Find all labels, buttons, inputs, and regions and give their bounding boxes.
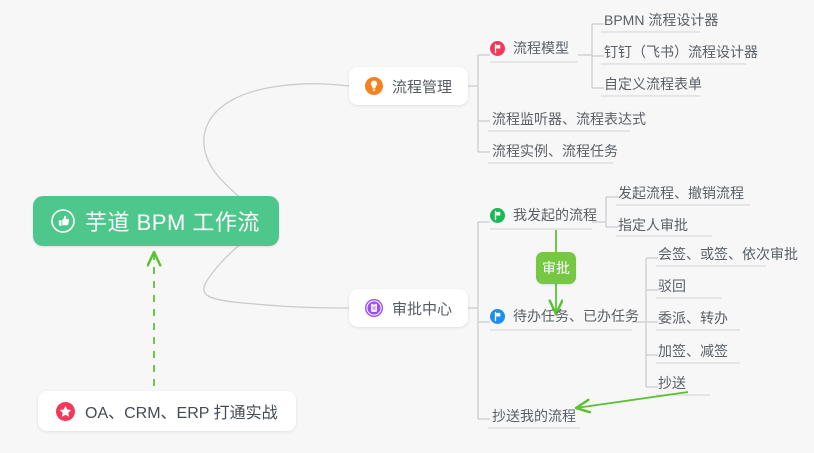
- node-add-remove-sign[interactable]: 加签、减签: [658, 339, 728, 363]
- node-dingtalk-feishu-designer[interactable]: 钉钉（飞书）流程设计器: [604, 40, 758, 64]
- node-todo-done-task[interactable]: 待办任务、已办任务: [490, 301, 639, 331]
- mindmap-canvas: 芋道 BPM 工作流 流程管理 流程模型 BPMN 流程设计器 钉钉（飞书: [0, 0, 814, 453]
- node-label: 发起流程、撤销流程: [618, 183, 744, 203]
- node-cc-to-me-process[interactable]: 抄送我的流程: [492, 404, 576, 428]
- node-label: 流程实例、流程任务: [492, 141, 618, 161]
- branch-label: 流程管理: [392, 76, 452, 97]
- node-label: 驳回: [658, 276, 686, 296]
- node-label: 加签、减签: [658, 341, 728, 361]
- node-label: 抄送我的流程: [492, 406, 576, 426]
- flag-blue-icon: [490, 309, 505, 324]
- floating-node-integration-practice[interactable]: OA、CRM、ERP 打通实战: [38, 391, 296, 431]
- node-delegate-transfer[interactable]: 委派、转办: [658, 306, 728, 330]
- root-label: 芋道 BPM 工作流: [85, 205, 260, 237]
- node-process-model[interactable]: 流程模型: [490, 33, 569, 63]
- node-label: 自定义流程表单: [604, 74, 702, 94]
- branch-approval-center[interactable]: 审批中心: [349, 289, 468, 327]
- node-reject[interactable]: 驳回: [658, 274, 686, 298]
- node-process-listener-expression[interactable]: 流程监听器、流程表达式: [492, 107, 646, 131]
- node-label: BPMN 流程设计器: [604, 10, 718, 30]
- node-label: 待办任务、已办任务: [513, 306, 639, 326]
- node-label: 会签、或签、依次审批: [658, 244, 798, 264]
- node-label: 流程监听器、流程表达式: [492, 109, 646, 129]
- root-node[interactable]: 芋道 BPM 工作流: [33, 196, 279, 246]
- node-label: 指定人审批: [618, 215, 688, 235]
- node-label: 抄送: [658, 373, 686, 393]
- approval-badge[interactable]: 审批: [536, 252, 576, 284]
- node-process-instance-task[interactable]: 流程实例、流程任务: [492, 139, 618, 163]
- node-assignee-approval[interactable]: 指定人审批: [618, 213, 688, 237]
- node-label: 钉钉（飞书）流程设计器: [604, 42, 758, 62]
- lightbulb-icon: [365, 77, 383, 95]
- node-bpmn-designer[interactable]: BPMN 流程设计器: [604, 8, 718, 32]
- thumbs-up-icon: [51, 209, 75, 233]
- branch-label: 审批中心: [392, 298, 452, 319]
- flag-red-icon: [490, 41, 505, 56]
- node-countersign-or-sequential[interactable]: 会签、或签、依次审批: [658, 242, 798, 266]
- approval-badge-label: 审批: [542, 258, 570, 278]
- star-icon: [56, 402, 75, 421]
- node-carbon-copy[interactable]: 抄送: [658, 371, 686, 395]
- node-my-initiated-process[interactable]: 我发起的流程: [490, 200, 597, 230]
- clipboard-icon: [365, 299, 383, 317]
- node-label: 流程模型: [513, 38, 569, 58]
- node-custom-process-form[interactable]: 自定义流程表单: [604, 72, 702, 96]
- node-start-cancel-process[interactable]: 发起流程、撤销流程: [618, 181, 744, 205]
- node-label: 我发起的流程: [513, 205, 597, 225]
- flag-green-icon: [490, 208, 505, 223]
- node-label: 委派、转办: [658, 308, 728, 328]
- branch-process-management[interactable]: 流程管理: [349, 67, 468, 105]
- floating-node-label: OA、CRM、ERP 打通实战: [85, 399, 278, 423]
